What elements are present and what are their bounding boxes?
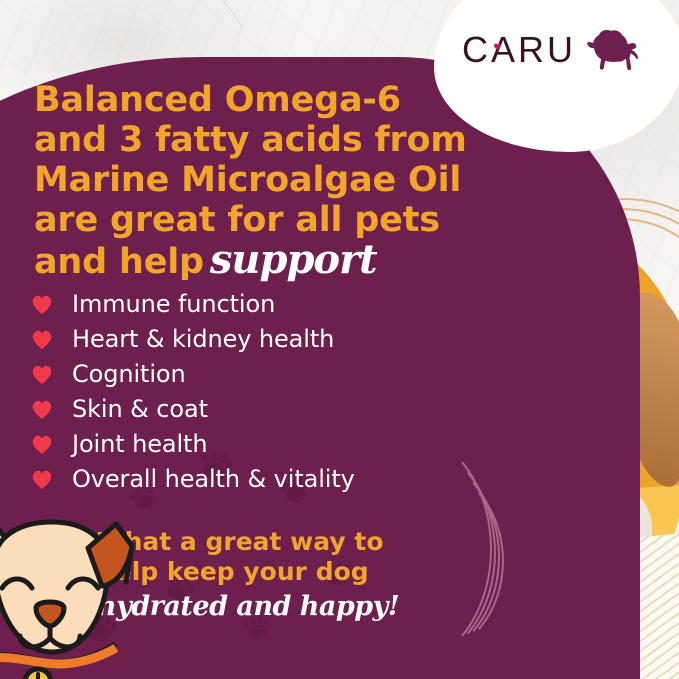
- brand-wordmark: CARU: [462, 32, 576, 68]
- headline-line-5-prefix: and help: [34, 242, 204, 282]
- list-item: Immune function: [30, 286, 430, 321]
- list-item-label: Cognition: [72, 361, 186, 387]
- heart-icon: [30, 433, 54, 455]
- heart-icon: [30, 398, 54, 420]
- list-item-label: Heart & kidney health: [72, 326, 334, 352]
- list-item-label: Overall health & vitality: [72, 466, 355, 492]
- cartoon-dog-illustration: [0, 512, 156, 679]
- list-item-label: Joint health: [72, 431, 207, 457]
- headline-script-word: support: [210, 236, 377, 283]
- list-item-label: Immune function: [72, 291, 275, 317]
- page-title: Balanced Omega-6 and 3 fatty acids from …: [34, 80, 454, 282]
- brand-logo[interactable]: CARU: [462, 22, 658, 78]
- heart-icon: [30, 328, 54, 350]
- headline-line-2: and 3 fatty acids from: [34, 120, 454, 160]
- list-item: Heart & kidney health: [30, 321, 430, 356]
- headline-line-5: and helpsupport: [34, 240, 454, 282]
- list-item: Overall health & vitality: [30, 461, 430, 496]
- dog-silhouette-icon: [582, 28, 640, 72]
- list-item-label: Skin & coat: [72, 396, 208, 422]
- headline-line-4: are great for all pets: [34, 200, 454, 240]
- list-item: Skin & coat: [30, 391, 430, 426]
- heart-icon: [30, 363, 54, 385]
- headline-line-1: Balanced Omega-6: [34, 80, 454, 120]
- heart-icon: [30, 468, 54, 490]
- heart-icon: [493, 42, 502, 51]
- list-item: Cognition: [30, 356, 430, 391]
- benefits-list: Immune function Heart & kidney health Co…: [30, 286, 430, 496]
- list-item: Joint health: [30, 426, 430, 461]
- headline-line-3: Marine Microalgae Oil: [34, 160, 454, 200]
- ad-canvas: CARU Balanced Omega-6 and 3 fatty acids …: [0, 0, 679, 679]
- heart-icon: [30, 293, 54, 315]
